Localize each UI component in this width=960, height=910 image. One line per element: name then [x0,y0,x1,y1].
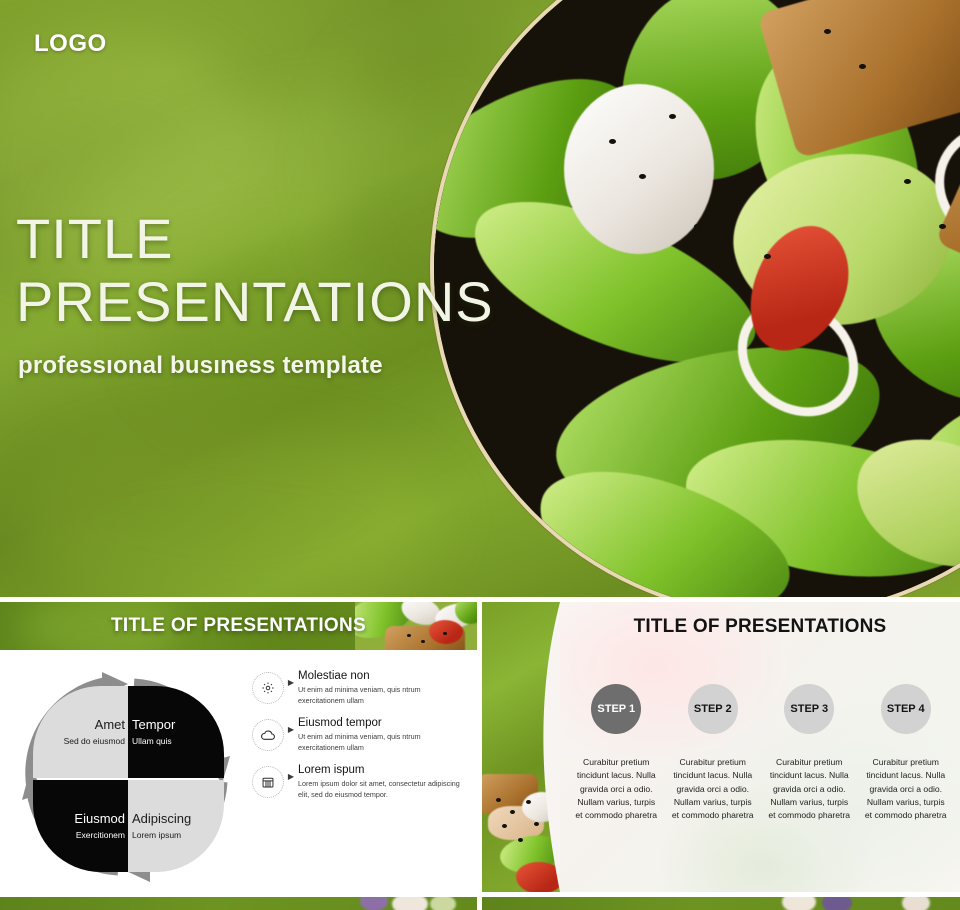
quadrant-label: Eiusmod [74,812,125,826]
step-badge: STEP 2 [688,684,738,734]
step-item-4[interactable]: STEP 4 Curabitur pretium tincidunt lacus… [858,684,955,823]
calendar-icon [252,766,284,798]
chevron-right-icon: ▶ [284,764,298,781]
bullet-heading: Lorem ispum [298,764,467,777]
salad-photo-content [434,0,960,597]
list-item[interactable]: ▶ Eiusmod tempor Ut enim ad minima venia… [252,717,467,753]
presentation-template-preview: LOGO TITLE PRESENTATIONS professıonal bu… [0,0,960,910]
band-curve-mask [482,602,560,892]
title-line-1: TITLE [16,212,494,267]
slide-right-title: TITLE OF PRESENTATIONS [560,616,960,638]
quadrant-label: Adipiscing [132,812,191,826]
cycle-diagram: Amet Sed do eiusmod Tempor Ullam quis Ei… [18,670,236,882]
step-badge: STEP 3 [784,684,834,734]
step-badge: STEP 1 [591,684,641,734]
gear-icon [252,672,284,704]
step-list: STEP 1 Curabitur pretium tincidunt lacus… [568,684,954,823]
bullet-body: Ut enim ad minima veniam, quis ntrum exe… [298,732,467,753]
slide-thumbnail-partial-left[interactable] [0,897,477,910]
bullet-body: Lorem ipsum dolor sit amet, consectetur … [298,779,467,800]
slide-thumbnail-steps[interactable]: TITLE OF PRESENTATIONS STEP 1 Curabitur … [482,602,960,892]
step-item-1[interactable]: STEP 1 Curabitur pretium tincidunt lacus… [568,684,665,823]
step-description: Curabitur pretium tincidunt lacus. Nulla… [670,756,756,823]
next-slide-row-partial [0,897,960,910]
quadrant-sublabel: Ullam quis [132,736,172,746]
bullet-heading: Eiusmod tempor [298,717,467,730]
quadrant-sublabel: Sed do eiusmod [64,736,125,746]
slide-thumbnail-diagram[interactable]: TITLE OF PRESENTATIONS [0,602,477,892]
title-line-2: PRESENTATIONS [16,275,494,330]
list-item[interactable]: ▶ Lorem ispum Lorem ipsum dolor sit amet… [252,764,467,800]
slide-right-side-photo [482,602,560,892]
step-item-2[interactable]: STEP 2 Curabitur pretium tincidunt lacus… [665,684,762,823]
chevron-right-icon: ▶ [284,717,298,734]
step-badge: STEP 4 [881,684,931,734]
salad-bowl-photo [430,0,960,597]
bullet-body: Ut enim ad minima veniam, quis ntrum exe… [298,685,467,706]
step-item-3[interactable]: STEP 3 Curabitur pretium tincidunt lacus… [761,684,858,823]
slide-left-title: TITLE OF PRESENTATIONS [0,602,477,650]
hero-slide: LOGO TITLE PRESENTATIONS professıonal bu… [0,0,960,597]
page-title: TITLE PRESENTATIONS [16,212,494,330]
step-description: Curabitur pretium tincidunt lacus. Nulla… [863,756,949,823]
slide-thumbnail-row: TITLE OF PRESENTATIONS [0,602,960,892]
logo: LOGO [34,30,107,58]
quadrant-label: Amet [95,718,125,732]
slide-thumbnail-partial-right[interactable] [482,897,960,910]
quadrant-sublabel: Exercitionem [76,830,125,840]
step-description: Curabitur pretium tincidunt lacus. Nulla… [766,756,852,823]
subtitle: professıonal busıness template [18,352,383,380]
background-blot [20,430,440,597]
quadrant-label: Tempor [132,718,175,732]
bullet-heading: Molestiae non [298,670,467,683]
bullet-list: ▶ Molestiae non Ut enim ad minima veniam… [252,670,467,811]
chevron-right-icon: ▶ [284,670,298,687]
quadrant-sublabel: Lorem ipsum [132,830,181,840]
list-item[interactable]: ▶ Molestiae non Ut enim ad minima veniam… [252,670,467,706]
cloud-icon [252,719,284,751]
step-description: Curabitur pretium tincidunt lacus. Nulla… [573,756,659,823]
